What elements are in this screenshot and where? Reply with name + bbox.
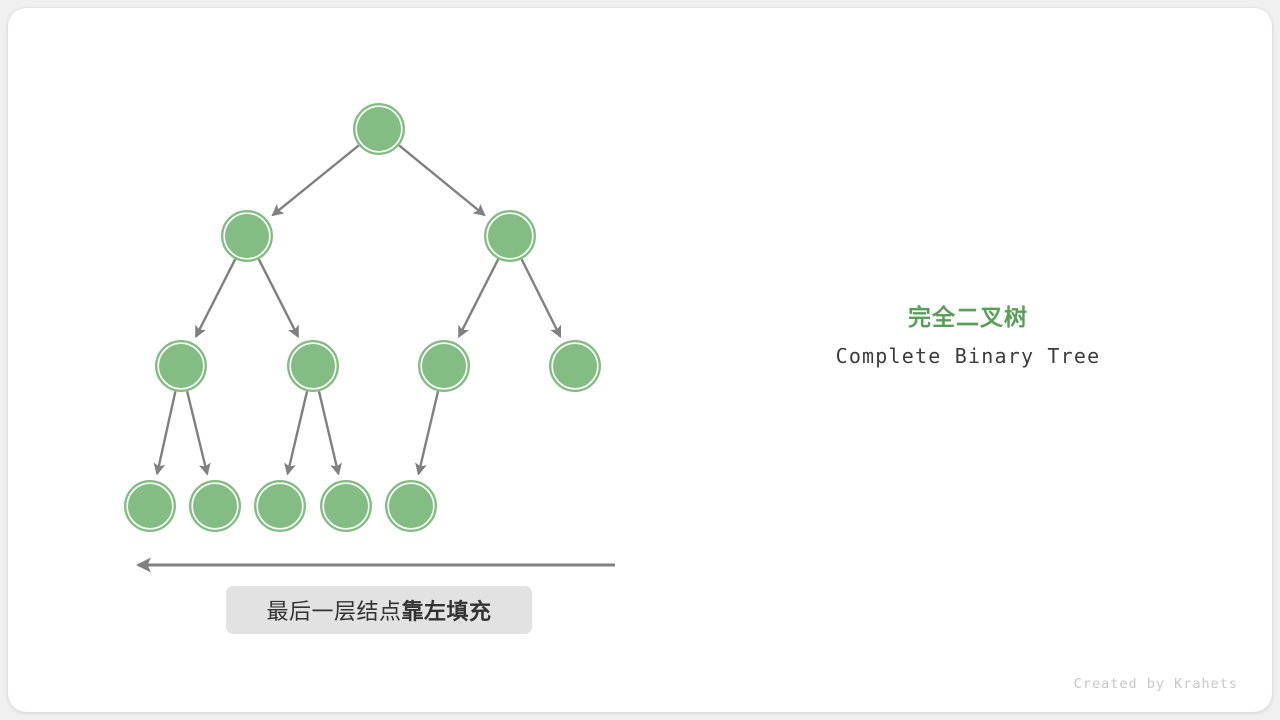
node-inner-circle	[553, 344, 596, 387]
tree-edge	[319, 391, 338, 474]
watermark-credit: Created by Krahets	[1074, 676, 1238, 692]
node-inner-circle	[488, 214, 531, 257]
tree-node	[125, 481, 175, 531]
tree-node	[354, 104, 404, 154]
tree-nodes	[125, 104, 600, 531]
tree-edge	[273, 145, 359, 215]
tree-node	[321, 481, 371, 531]
diagram-stage: 完全二叉树 Complete Binary Tree 最后一层结点靠左填充 Cr…	[0, 0, 1280, 720]
tree-node	[550, 341, 600, 391]
tree-edge	[196, 259, 235, 336]
tree-edge	[419, 391, 438, 474]
node-inner-circle	[159, 344, 202, 387]
tree-node	[156, 341, 206, 391]
caption-badge: 最后一层结点靠左填充	[226, 586, 532, 634]
tree-node	[419, 341, 469, 391]
node-inner-circle	[193, 484, 236, 527]
node-inner-circle	[128, 484, 171, 527]
node-inner-circle	[357, 107, 400, 150]
legend-title-zh: 完全二叉树	[768, 298, 1168, 332]
node-inner-circle	[258, 484, 301, 527]
tree-node	[288, 341, 338, 391]
tree-node	[255, 481, 305, 531]
node-inner-circle	[422, 344, 465, 387]
caption-text-bold: 靠左填充	[402, 594, 492, 626]
tree-node	[190, 481, 240, 531]
tree-node	[485, 211, 535, 261]
node-inner-circle	[291, 344, 334, 387]
node-inner-circle	[225, 214, 268, 257]
tree-edge	[259, 259, 298, 336]
tree-edges	[157, 145, 560, 474]
tree-edge	[187, 391, 207, 474]
caption-text-normal: 最后一层结点	[266, 594, 401, 626]
tree-edge	[157, 391, 175, 473]
tree-node	[386, 481, 436, 531]
node-inner-circle	[389, 484, 432, 527]
tree-edge	[288, 391, 307, 474]
tree-edge	[459, 259, 498, 336]
legend-title-en: Complete Binary Tree	[768, 344, 1168, 368]
node-inner-circle	[324, 484, 367, 527]
tree-node	[222, 211, 272, 261]
tree-edge	[399, 145, 484, 215]
tree-edge	[522, 259, 561, 336]
